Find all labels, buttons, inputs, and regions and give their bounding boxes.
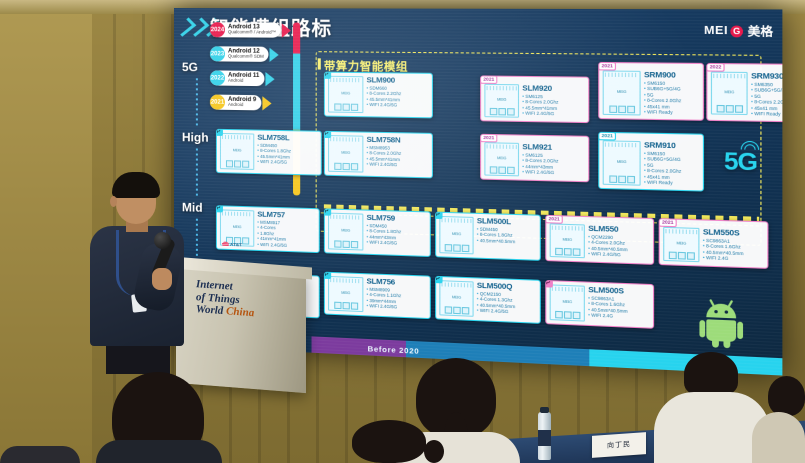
product-year-badge: 2021	[598, 62, 616, 71]
product-specs: QCM21504-Cores 1.3Ghz 40.5mm*40.5mmWIFI …	[477, 290, 537, 316]
product-specs: SDM6608-Cores 2.2Ghz 45.5mm*41mmWIFI 2.4…	[367, 85, 429, 109]
pill-arrow-2023	[270, 47, 279, 61]
att-label: AT&T	[230, 242, 242, 247]
product-card-srm930[interactable]: 2022 MEIG SRM930 SM6350SUB6G+5G/4G 5G8-C…	[706, 63, 782, 123]
product-specs: SM61258-Cores 2.0Ghz 45.5mm*41mmWIFI 2.4…	[522, 93, 585, 117]
att-carrier-logo: AT&T	[222, 242, 242, 248]
product-card-slm920[interactable]: 2021 MEIG SLM920 SM61258-Cores 2.0Ghz 45…	[480, 75, 589, 123]
product-name: SLM756	[367, 277, 427, 287]
product-name: SLM921	[522, 143, 585, 152]
pill-year-2022: 2022	[210, 70, 225, 85]
product-name: SRM910	[644, 141, 699, 150]
product-name: SLM900	[367, 76, 429, 84]
pill-arrow-2022	[265, 72, 274, 86]
qualcomm-badge-icon: P	[216, 129, 223, 136]
product-specs: SM61258-Cores 2.0Ghz 44mm*43mmWIFI 2.4G/…	[522, 152, 585, 177]
product-name: SLM500L	[477, 217, 537, 227]
conference-photo: 智能模组路标 MEI G 美格 带算力智能模组 5G High Mid 2024	[0, 0, 805, 463]
tier-label-5g: 5G	[182, 60, 198, 74]
pill-arrow-2021	[262, 96, 271, 110]
qualcomm-badge-icon: P	[435, 212, 442, 219]
qualcomm-badge-icon: P	[216, 205, 223, 212]
module-image: MEIG	[603, 140, 641, 185]
product-specs: MSM89174-Cores 1.8Ghz41mm*41mm WIFI 2.4G…	[257, 219, 315, 249]
product-specs: SC9863A18-Cores 1.6Ghz 40.5mm*40.5mmWIFI…	[588, 295, 649, 321]
audience-member-4	[684, 352, 738, 396]
module-image: MEIG	[603, 70, 641, 115]
pill-version-2023: Android 12 Qualcomm® SDM	[228, 48, 264, 59]
podium-branding: Internet of Things World China	[196, 278, 306, 324]
product-card-slm757[interactable]: P MEIG SLM757 MSM89174-Cores 1.8Ghz41mm*…	[216, 205, 320, 253]
product-year-badge: 2021	[545, 215, 563, 224]
product-year-badge: 2021	[480, 75, 498, 84]
callout-label-bar	[318, 58, 321, 69]
product-card-slm759[interactable]: P MEIG SLM759 SDM4508-Cores 1.8Ghz 44mm*…	[324, 208, 431, 257]
qualcomm-badge-icon: P	[545, 280, 553, 288]
product-name: SLM500Q	[477, 282, 537, 292]
product-specs: SM6150SUB6G+5G/4G 5G8-Cores 2.0Ghz 45x41…	[644, 150, 699, 187]
brand-g-icon: G	[730, 25, 743, 37]
qualcomm-badge-icon: P	[324, 272, 331, 279]
module-image: MEIG	[711, 72, 748, 116]
qualcomm-badge-icon: P	[324, 72, 331, 79]
product-card-slm921[interactable]: 2021 MEIG SLM921 SM61258-Cores 2.0Ghz 44…	[480, 134, 589, 183]
product-name: SLM757	[257, 210, 315, 219]
product-name: SLM758L	[257, 134, 317, 143]
tier-rail-dots-1	[196, 78, 198, 126]
product-card-slm550[interactable]: 2021 MEIG SLM550 QCM22904-Cores 2.0Ghz 4…	[545, 215, 654, 265]
pill-year-2023: 2023	[210, 46, 225, 61]
product-year-badge: 2021	[659, 218, 677, 227]
presenter	[86, 172, 194, 372]
product-specs: SM6350SUB6G+5G/4G 5G8-Cores 2.2Ghz 45x41…	[751, 81, 782, 118]
product-year-badge: 2022	[706, 63, 725, 72]
module-image: MEIG	[439, 280, 473, 317]
product-name: SLM920	[522, 84, 585, 93]
android-robot-icon	[702, 303, 741, 348]
presenter-legs	[106, 342, 170, 374]
bottle-label	[538, 430, 551, 446]
room-wall-left	[0, 0, 92, 463]
audience-ponytail-3	[424, 440, 444, 463]
module-image: MEIG	[439, 216, 473, 254]
product-card-srm910[interactable]: 2021 MEIG SRM910 SM6150SUB6G+5G/4G 5G8-C…	[598, 132, 704, 192]
signal-wave-icon	[741, 141, 758, 152]
product-name: SLM550S	[703, 228, 764, 238]
module-image: MEIG	[328, 76, 363, 113]
meig-logo: MEI G 美格	[704, 22, 773, 40]
audience-shoulders-6	[0, 446, 80, 463]
product-name: SLM758N	[367, 136, 429, 145]
qualcomm-badge-icon: P	[435, 276, 442, 284]
module-image: MEIG	[484, 84, 519, 118]
microphone-head-icon	[154, 232, 171, 249]
pill-year-2024: 2024	[210, 22, 225, 37]
product-card-slm500s[interactable]: P MEIG SLM500S SC9863A18-Cores 1.6Ghz 40…	[545, 280, 654, 329]
product-specs: MSM89538-Cores 2.0Ghz 45.5mm*41mmWIFI 2.…	[367, 144, 429, 168]
nametag-text: 向丁民	[607, 439, 631, 451]
product-name: SLM500S	[588, 286, 649, 296]
product-card-slm550s[interactable]: 2021 MEIG SLM550S SC9863A18-Cores 1.6Ghz…	[659, 218, 769, 269]
android-pill-2024[interactable]: 2024 Android 13 Qualcomm® / Android™	[210, 22, 291, 38]
presenter-hair	[112, 172, 160, 198]
module-image: MEIG	[328, 276, 363, 312]
module-image: MEIG	[220, 133, 254, 170]
product-specs: SDM4508-Cores 1.8Ghz 44mm*43mmWIFI 2.4G/…	[367, 222, 427, 247]
module-image: MEIG	[550, 284, 585, 321]
product-specs: SC9863A18-Cores 1.6Ghz 40.5mm*40.5mmWIFI…	[703, 237, 764, 263]
product-name: SLM759	[367, 214, 427, 224]
qualcomm-badge-icon: P	[324, 131, 331, 138]
bottle-cap	[540, 407, 549, 413]
android-pill-2021[interactable]: 2021 Android 9 Android	[210, 95, 272, 111]
water-bottle	[538, 412, 551, 460]
brand-mei-text: MEI	[704, 24, 728, 37]
presenter-ear	[110, 196, 117, 207]
product-card-slm500l[interactable]: P MEIG SLM500L SDM4508-Cores 1.8Ghz 40.5…	[435, 212, 541, 261]
audience-shoulders-5	[752, 412, 805, 463]
product-card-slm758n[interactable]: P MEIG SLM758N MSM89538-Cores 2.0Ghz 45.…	[324, 131, 433, 179]
brand-chinese-text: 美格	[748, 22, 773, 39]
pill-version-2024: Android 13 Qualcomm® / Android™	[228, 24, 276, 35]
audience-member-5	[768, 376, 805, 416]
qualcomm-badge-icon: P	[324, 208, 331, 215]
module-image: MEIG	[550, 223, 585, 258]
tier-label-high: High	[182, 130, 209, 145]
product-card-slm900[interactable]: P MEIG SLM900 SDM6608-Cores 2.2Ghz 45.5m…	[324, 72, 433, 119]
pill-version-2022: Android 11 Android	[228, 73, 259, 84]
audience-shoulders-1	[96, 440, 222, 463]
att-globe-icon	[222, 242, 229, 247]
5g-icon: 5G	[724, 147, 757, 177]
product-specs: MSM89094-Cores 1.1Ghz 39mm*44mmWIFI 2.4G…	[367, 286, 427, 311]
product-name: SRM900	[644, 71, 699, 80]
audience-nametag: 向丁民	[592, 432, 646, 458]
module-image: MEIG	[328, 135, 363, 173]
product-card-slm758l[interactable]: P MEIG SLM758L SDM4508-Cores 1.8Ghz 45.5…	[216, 129, 322, 176]
pill-version-2021: Android 9 Android	[228, 97, 256, 108]
pill-arrow-2024	[282, 23, 291, 37]
product-specs: SDM4508-Cores 1.8Ghz 45.5mm*41mmWIFI 2.4…	[257, 142, 317, 166]
product-card-slm756[interactable]: P MEIG SLM756 MSM89094-Cores 1.1Ghz 39mm…	[324, 272, 431, 319]
presenter-hand	[152, 268, 172, 290]
audience-member-3	[352, 420, 426, 463]
product-name: SLM550	[588, 225, 649, 235]
module-image: MEIG	[663, 227, 699, 262]
product-specs: SM6150SUB6G+5G/4G 5G8-Cores 2.0Ghz 45x41…	[644, 80, 699, 117]
android-pill-2022[interactable]: 2022 Android 11 Android	[210, 70, 275, 86]
product-card-srm900[interactable]: 2021 MEIG SRM900 SM6150SUB6G+5G/4G 5G8-C…	[598, 62, 704, 121]
product-year-badge: 2021	[598, 132, 616, 141]
android-pill-2023[interactable]: 2023 Android 12 Qualcomm® SDM	[210, 46, 279, 62]
product-year-badge: 2021	[480, 134, 498, 143]
product-card-slm500q[interactable]: P MEIG SLM500Q QCM21504-Cores 1.3Ghz 40.…	[435, 276, 541, 324]
product-specs: QCM22904-Cores 2.0Ghz 40.5mm*40.5mmWIFI …	[588, 234, 649, 260]
pill-year-2021: 2021	[210, 95, 225, 110]
product-name: SRM930	[751, 72, 782, 81]
tier-rail-dots-2	[196, 148, 198, 196]
product-specs: SDM4508-Cores 1.8Ghz 40.5mm*40.5mm	[477, 226, 537, 245]
module-image: MEIG	[328, 213, 363, 251]
module-image: MEIG	[484, 142, 519, 176]
